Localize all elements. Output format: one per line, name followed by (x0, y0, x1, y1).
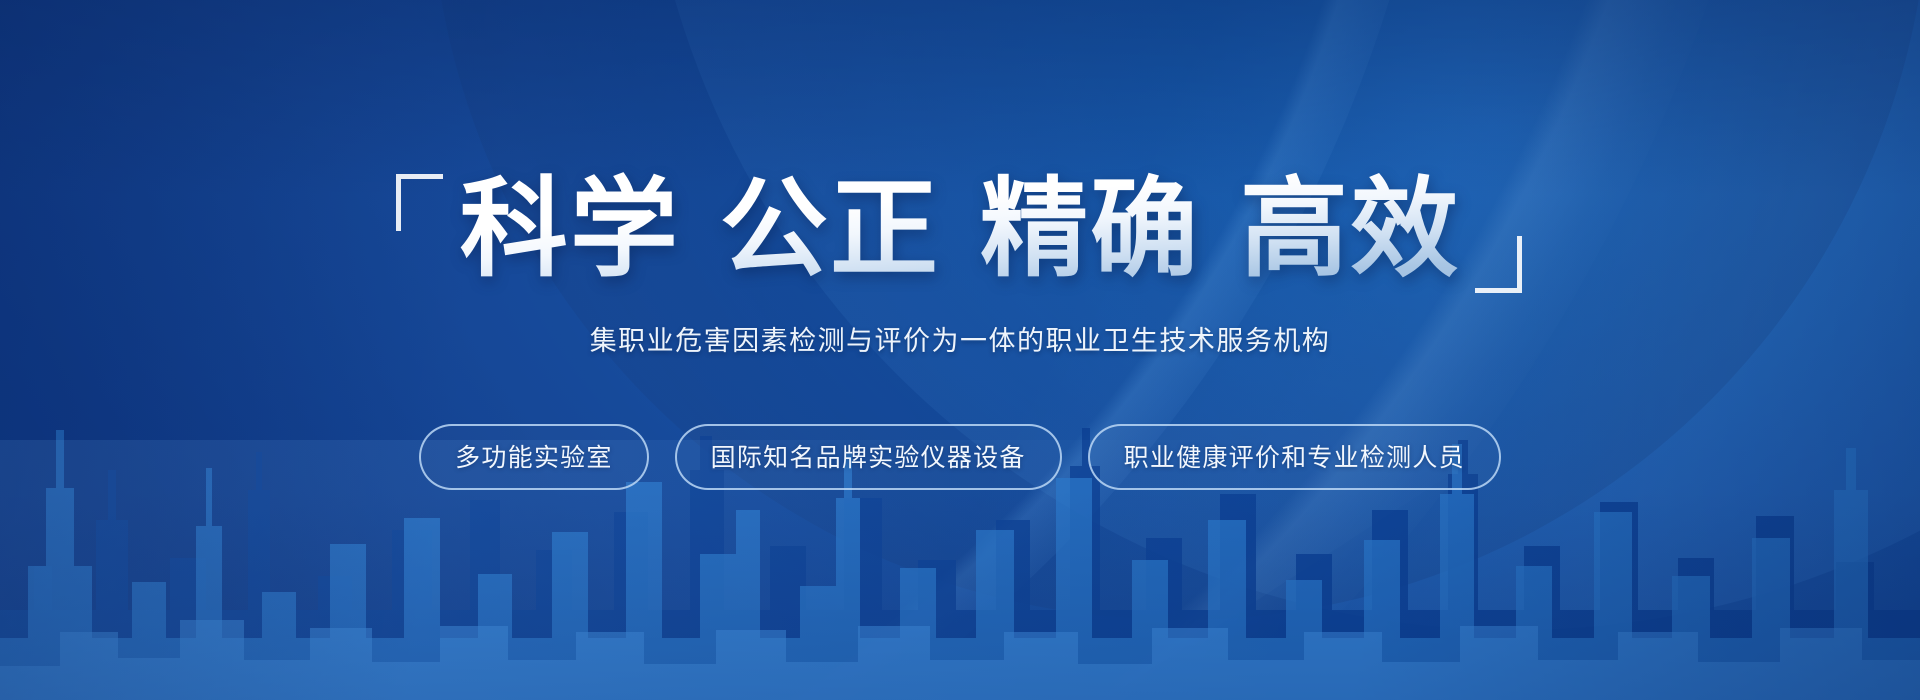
banner-content: 科学 公正 精确 高效 集职业危害因素检测与评价为一体的职业卫生技术服务机构 多… (0, 0, 1920, 700)
headline-block: 科学 公正 精确 高效 (460, 172, 1461, 289)
corner-bracket-left-icon (396, 174, 443, 231)
corner-bracket-right-icon (1475, 236, 1522, 293)
feature-pill-personnel[interactable]: 职业健康评价和专业检测人员 (1088, 424, 1501, 490)
banner-subtitle: 集职业危害因素检测与评价为一体的职业卫生技术服务机构 (590, 319, 1331, 358)
feature-pill-lab[interactable]: 多功能实验室 (419, 424, 649, 490)
hero-banner: 科学 公正 精确 高效 集职业危害因素检测与评价为一体的职业卫生技术服务机构 多… (0, 0, 1920, 700)
feature-pill-group: 多功能实验室 国际知名品牌实验仪器设备 职业健康评价和专业检测人员 (419, 424, 1501, 490)
banner-headline: 科学 公正 精确 高效 (460, 172, 1461, 289)
feature-pill-equipment[interactable]: 国际知名品牌实验仪器设备 (675, 424, 1062, 490)
